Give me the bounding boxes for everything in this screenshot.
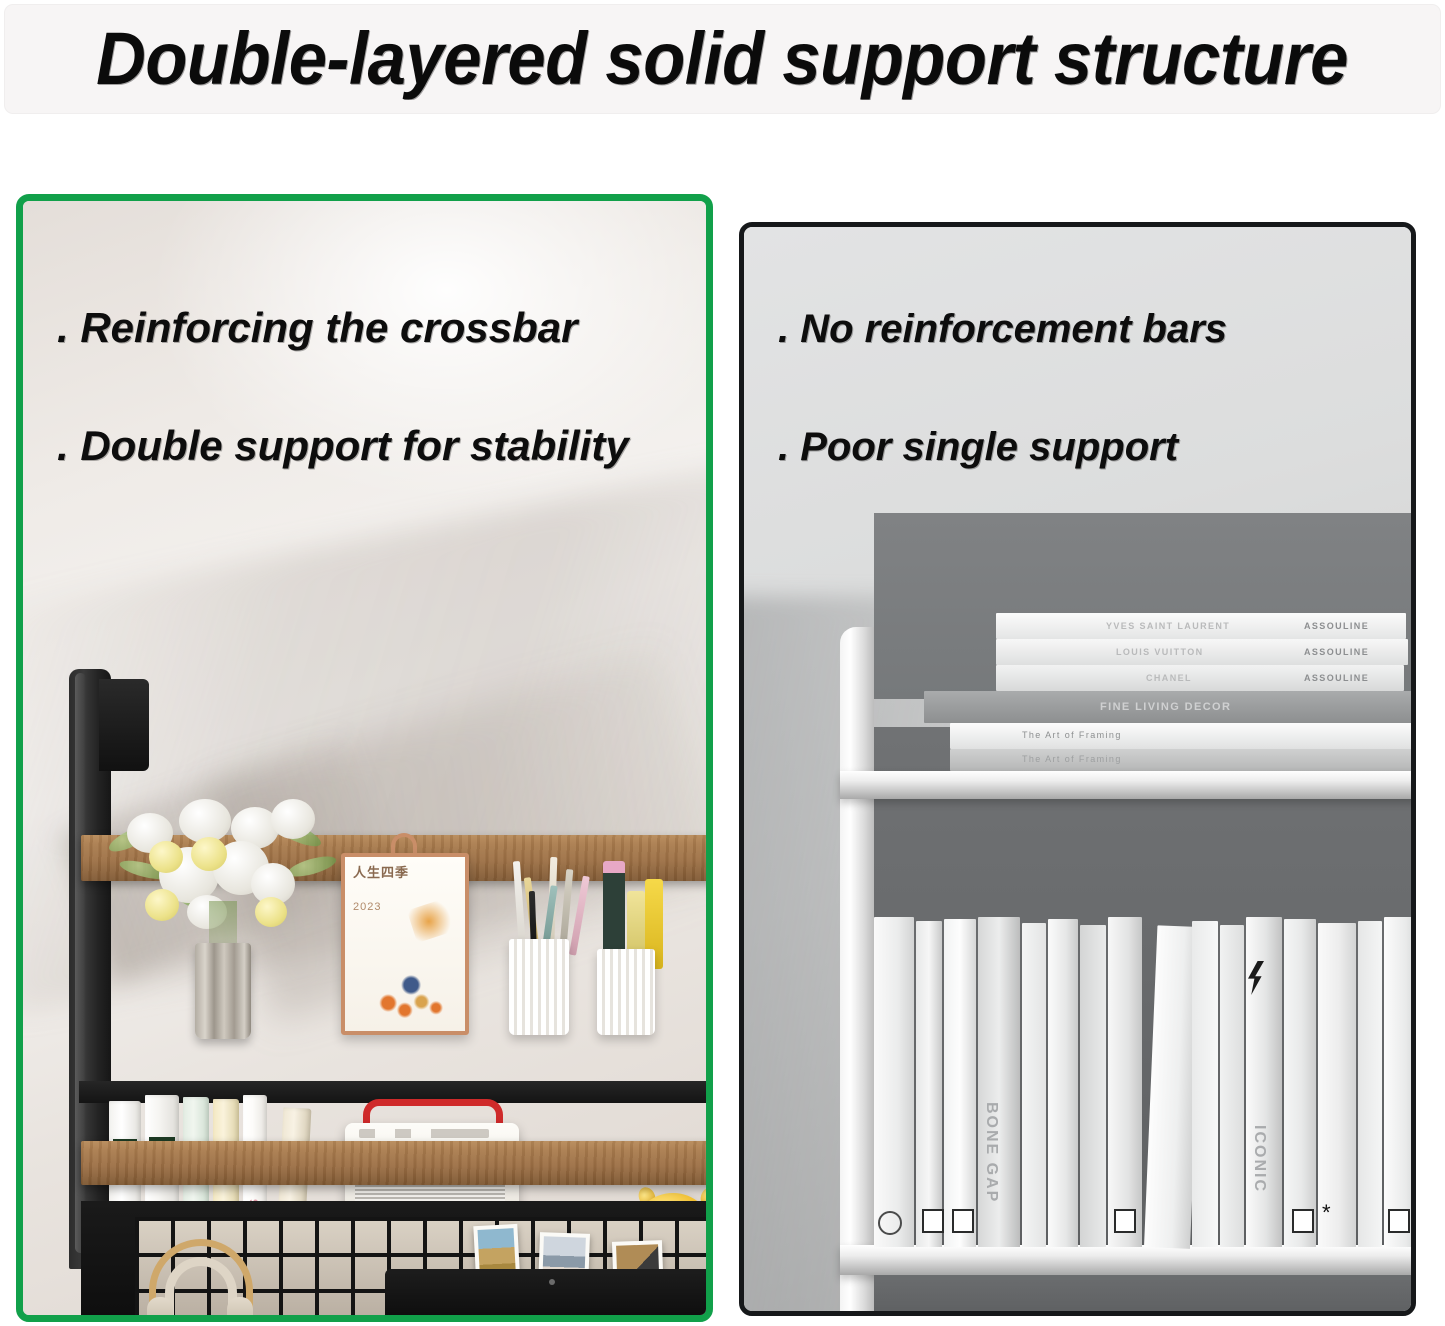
book-label-assouline-1: ASSOULINE — [1304, 621, 1369, 631]
calendar-art-top — [407, 897, 459, 943]
wood-grain — [81, 1141, 706, 1185]
shelf-single-support-post — [840, 627, 874, 1311]
book-spine-iconic: ICONIC — [1250, 1125, 1268, 1193]
good-panel-bullets: . Reinforcing the crossbar . Double supp… — [57, 307, 713, 467]
bad-panel-bullets: . No reinforcement bars . Poor single su… — [778, 309, 1388, 467]
book-title-6: The Art of Framing — [1022, 754, 1122, 764]
calendar-cn-text: 人生四季 — [353, 867, 409, 881]
headphone-cup-left — [147, 1297, 173, 1315]
radio-knobs — [359, 1129, 489, 1138]
calendar-art-bottom — [357, 961, 461, 1021]
flower-vase — [195, 943, 251, 1039]
upright-book-row: BONE GAP ICONIC * — [874, 917, 1411, 1247]
pen-cup-pencils — [509, 939, 569, 1035]
monitor-camera-dot — [549, 1279, 555, 1285]
headphones — [149, 1239, 253, 1315]
calendar-year: 2023 — [353, 901, 381, 913]
book-title-4: FINE LIVING DECOR — [1100, 701, 1231, 713]
book-title-1: YVES SAINT LAURENT — [1106, 621, 1230, 631]
bad-bullet-2: . Poor single support — [778, 427, 1388, 467]
good-panel: 人生四季 2023 — [16, 194, 713, 1322]
bad-panel: ASSOULINE ASSOULINE ASSOULINE YVES SAINT… — [739, 222, 1416, 1316]
comparison-panels: 人生四季 2023 — [0, 194, 1445, 1326]
headphone-cup-right — [227, 1297, 253, 1315]
shelf-frame-notch — [99, 679, 149, 771]
book-title-2: LOUIS VUITTON — [1116, 647, 1204, 657]
book-label-assouline-3: ASSOULINE — [1304, 673, 1369, 683]
shelf-board-lower — [840, 1245, 1411, 1275]
pen-cup-markers — [597, 949, 655, 1035]
wood-shelf-middle — [81, 1141, 706, 1185]
good-bullet-1: . Reinforcing the crossbar — [57, 307, 713, 349]
book-title-5: The Art of Framing — [1022, 730, 1122, 740]
header-banner: Double-layered solid support structure — [4, 4, 1441, 114]
desk-calendar: 人生四季 2023 — [341, 853, 469, 1035]
book-label-assouline-2: ASSOULINE — [1304, 647, 1369, 657]
monitor — [385, 1269, 706, 1315]
shelf-lower-compartment — [874, 1275, 1411, 1311]
comparison-infographic: Double-layered solid support structure — [0, 0, 1445, 1326]
book-spine-bone-gap: BONE GAP — [982, 1102, 1000, 1203]
good-bullet-2: . Double support for stability — [57, 425, 713, 467]
bad-bullet-1: . No reinforcement bars — [778, 309, 1388, 349]
shelf-board-upper — [840, 771, 1411, 799]
book-title-3: CHANEL — [1146, 673, 1192, 683]
page-title: Double-layered solid support structure — [97, 22, 1349, 96]
